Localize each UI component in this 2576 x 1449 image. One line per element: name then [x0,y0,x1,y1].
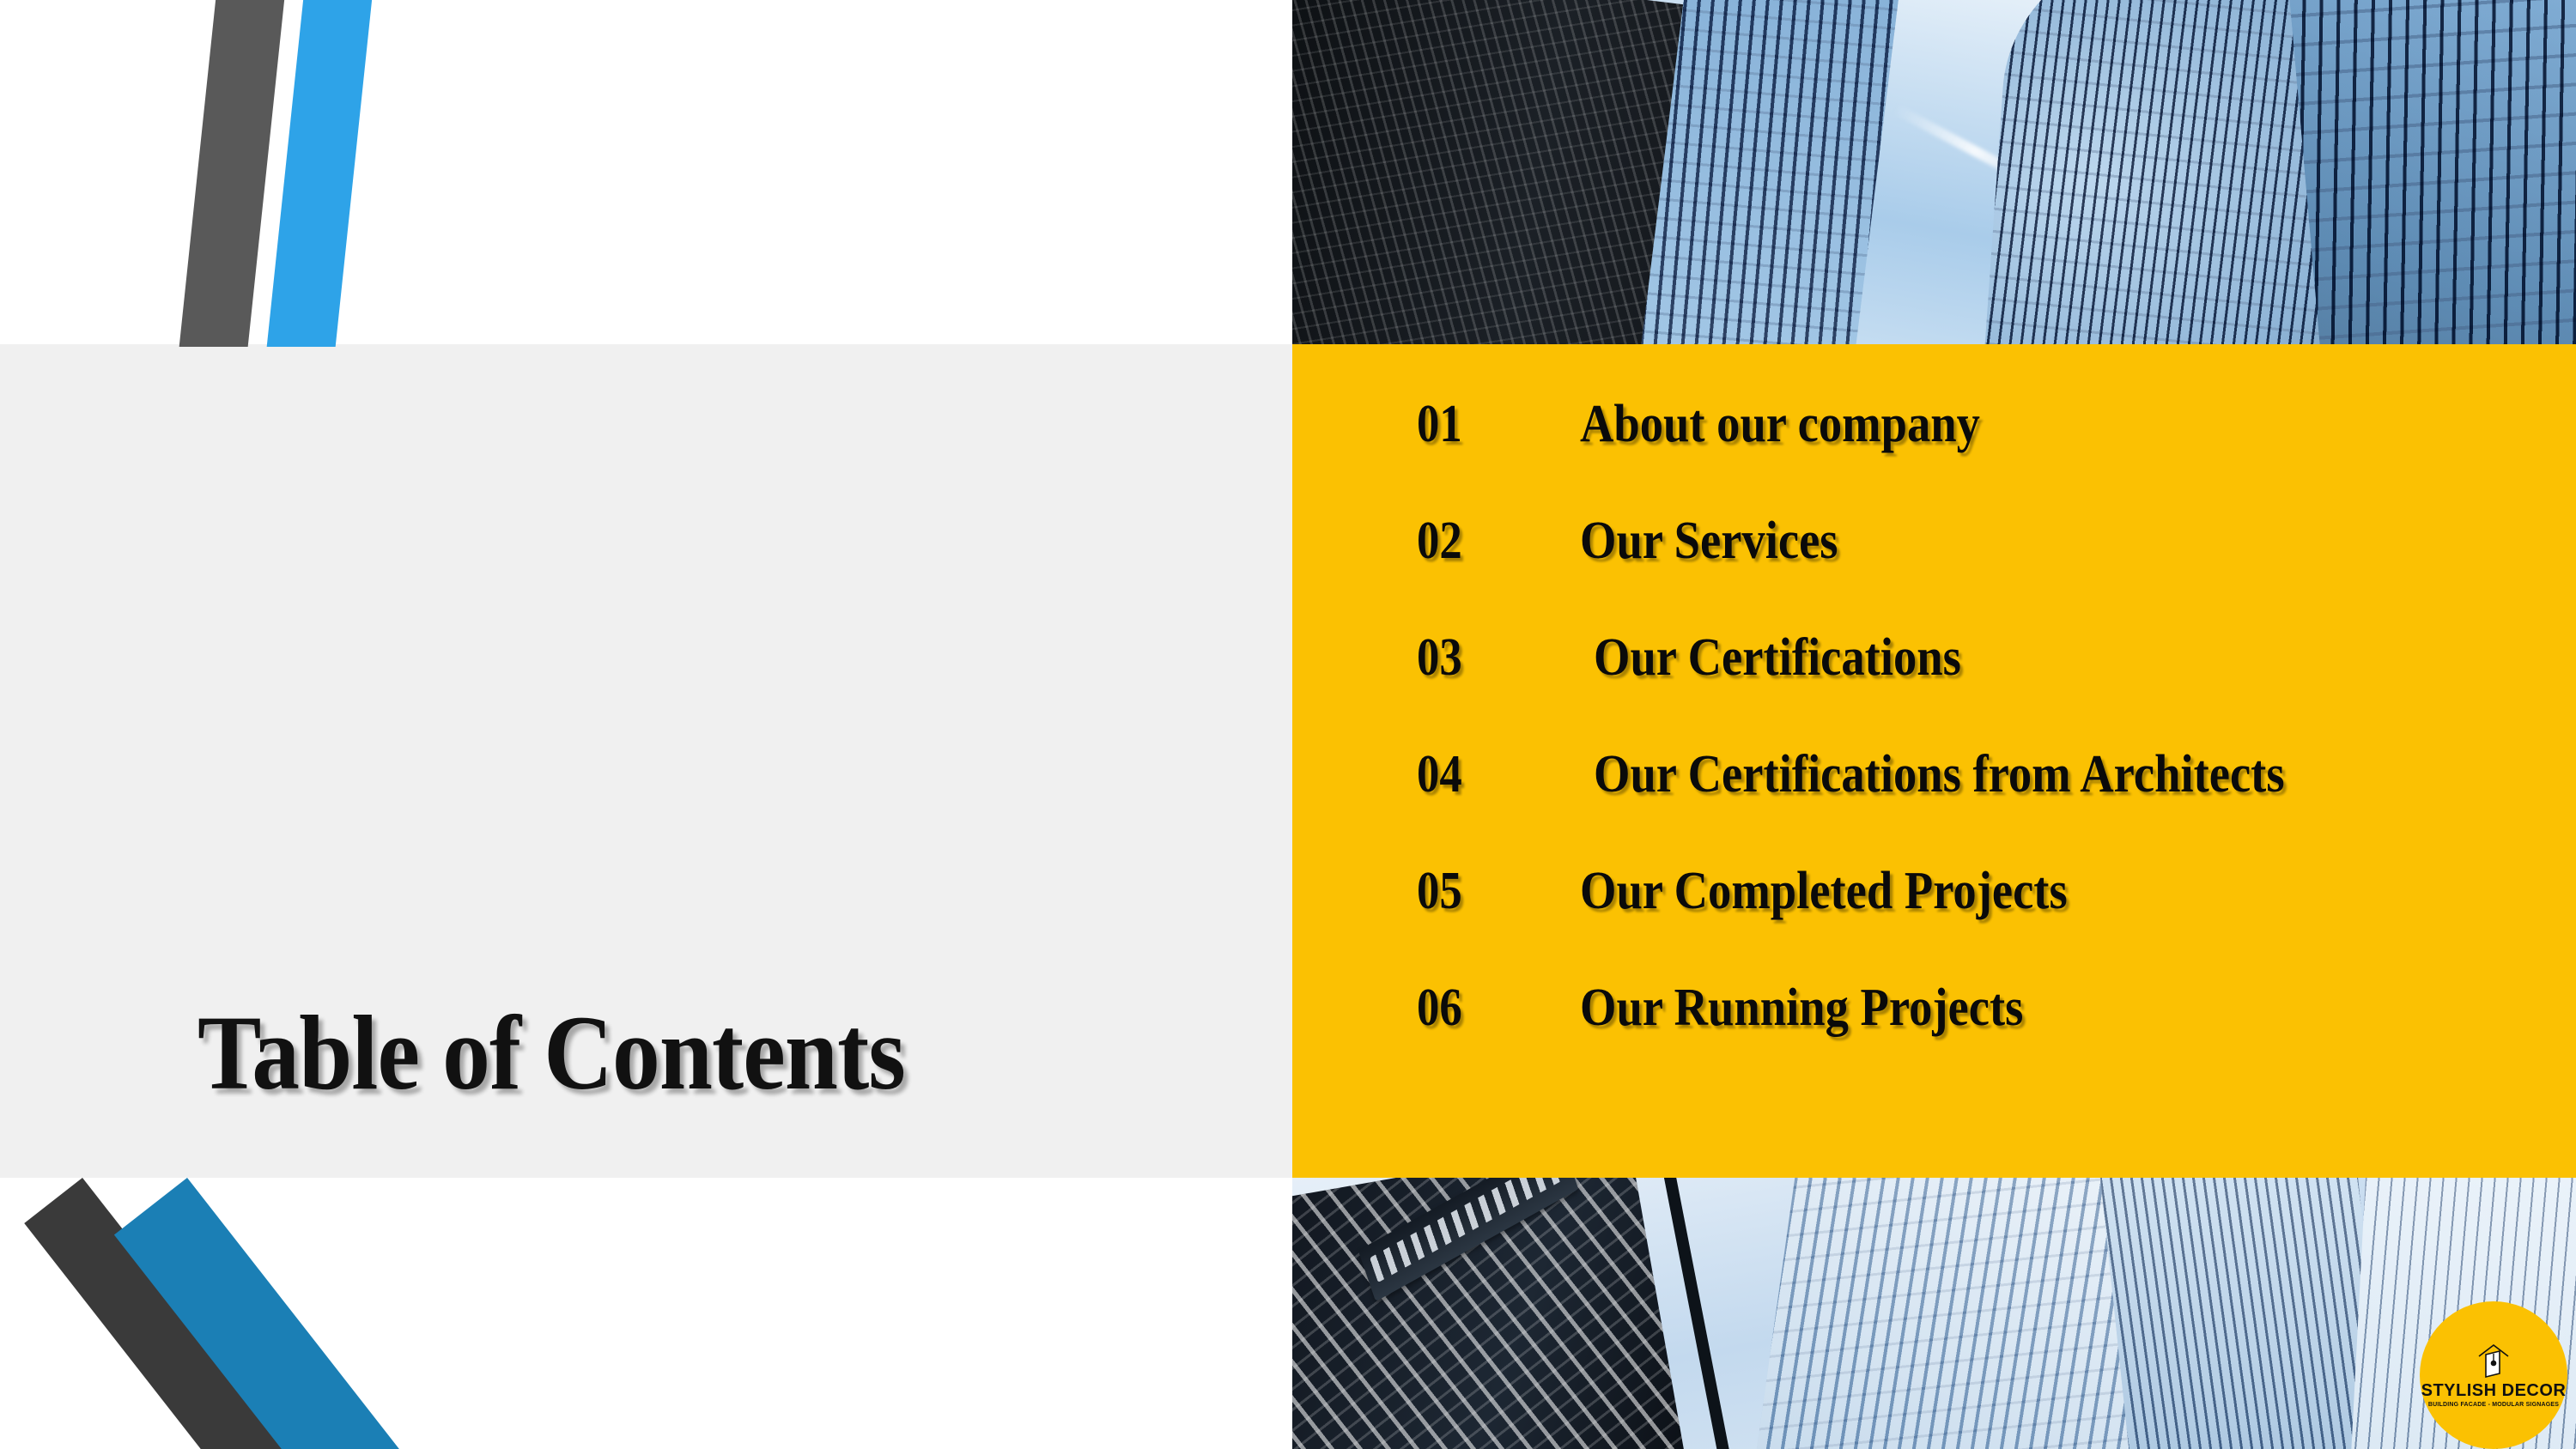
bottom-left-accent-stripes [0,1178,601,1449]
toc-label: Our Services [1580,514,1838,567]
toc-item-01[interactable]: 01 About our company [1417,397,2567,514]
building-mid-right [2099,1178,2392,1449]
toc-number: 04 [1417,748,1556,801]
page-title: Table of Contents [197,1000,905,1106]
toc-item-04[interactable]: 04 Our Certifications from Architects [1417,748,2567,864]
toc-item-03[interactable]: 03 Our Certifications [1417,631,2567,748]
company-logo-badge[interactable]: STYLISH DECOR BUILDING FACADE - MODULAR … [2420,1301,2567,1449]
accent-stripe-gray-top [173,0,289,347]
logo-wordmark: STYLISH DECOR [2421,1382,2567,1399]
toc-number: 03 [1417,631,1556,684]
toc-number: 02 [1417,514,1556,567]
top-left-accent-stripes [0,0,481,347]
logo-tagline: BUILDING FACADE - MODULAR SIGNAGES [2428,1402,2559,1408]
toc-number: 06 [1417,981,1556,1034]
toc-item-02[interactable]: 02 Our Services [1417,514,2567,631]
toc-list: 01 About our company 02 Our Services 03 … [1417,397,2567,1098]
bottom-building-photo [1292,1178,2576,1449]
toc-number: 01 [1417,397,1556,451]
toc-item-06[interactable]: 06 Our Running Projects [1417,981,2567,1098]
presentation-slide: Table of Contents 01 About our company 0… [0,0,2576,1449]
toc-number: 05 [1417,864,1556,918]
toc-item-05[interactable]: 05 Our Completed Projects [1417,864,2567,981]
toc-label: Our Certifications [1594,631,1961,684]
glass-tower-right [2286,0,2576,347]
toc-label: Our Completed Projects [1580,864,2068,918]
open-door-lamp-icon [2474,1343,2513,1379]
title-panel: Table of Contents [0,344,1292,1178]
contents-panel: 01 About our company 02 Our Services 03 … [1292,344,2576,1178]
toc-label: Our Running Projects [1580,981,2023,1034]
toc-label: About our company [1580,397,1980,451]
toc-label: Our Certifications from Architects [1594,748,2285,801]
top-building-photo [1292,0,2576,347]
